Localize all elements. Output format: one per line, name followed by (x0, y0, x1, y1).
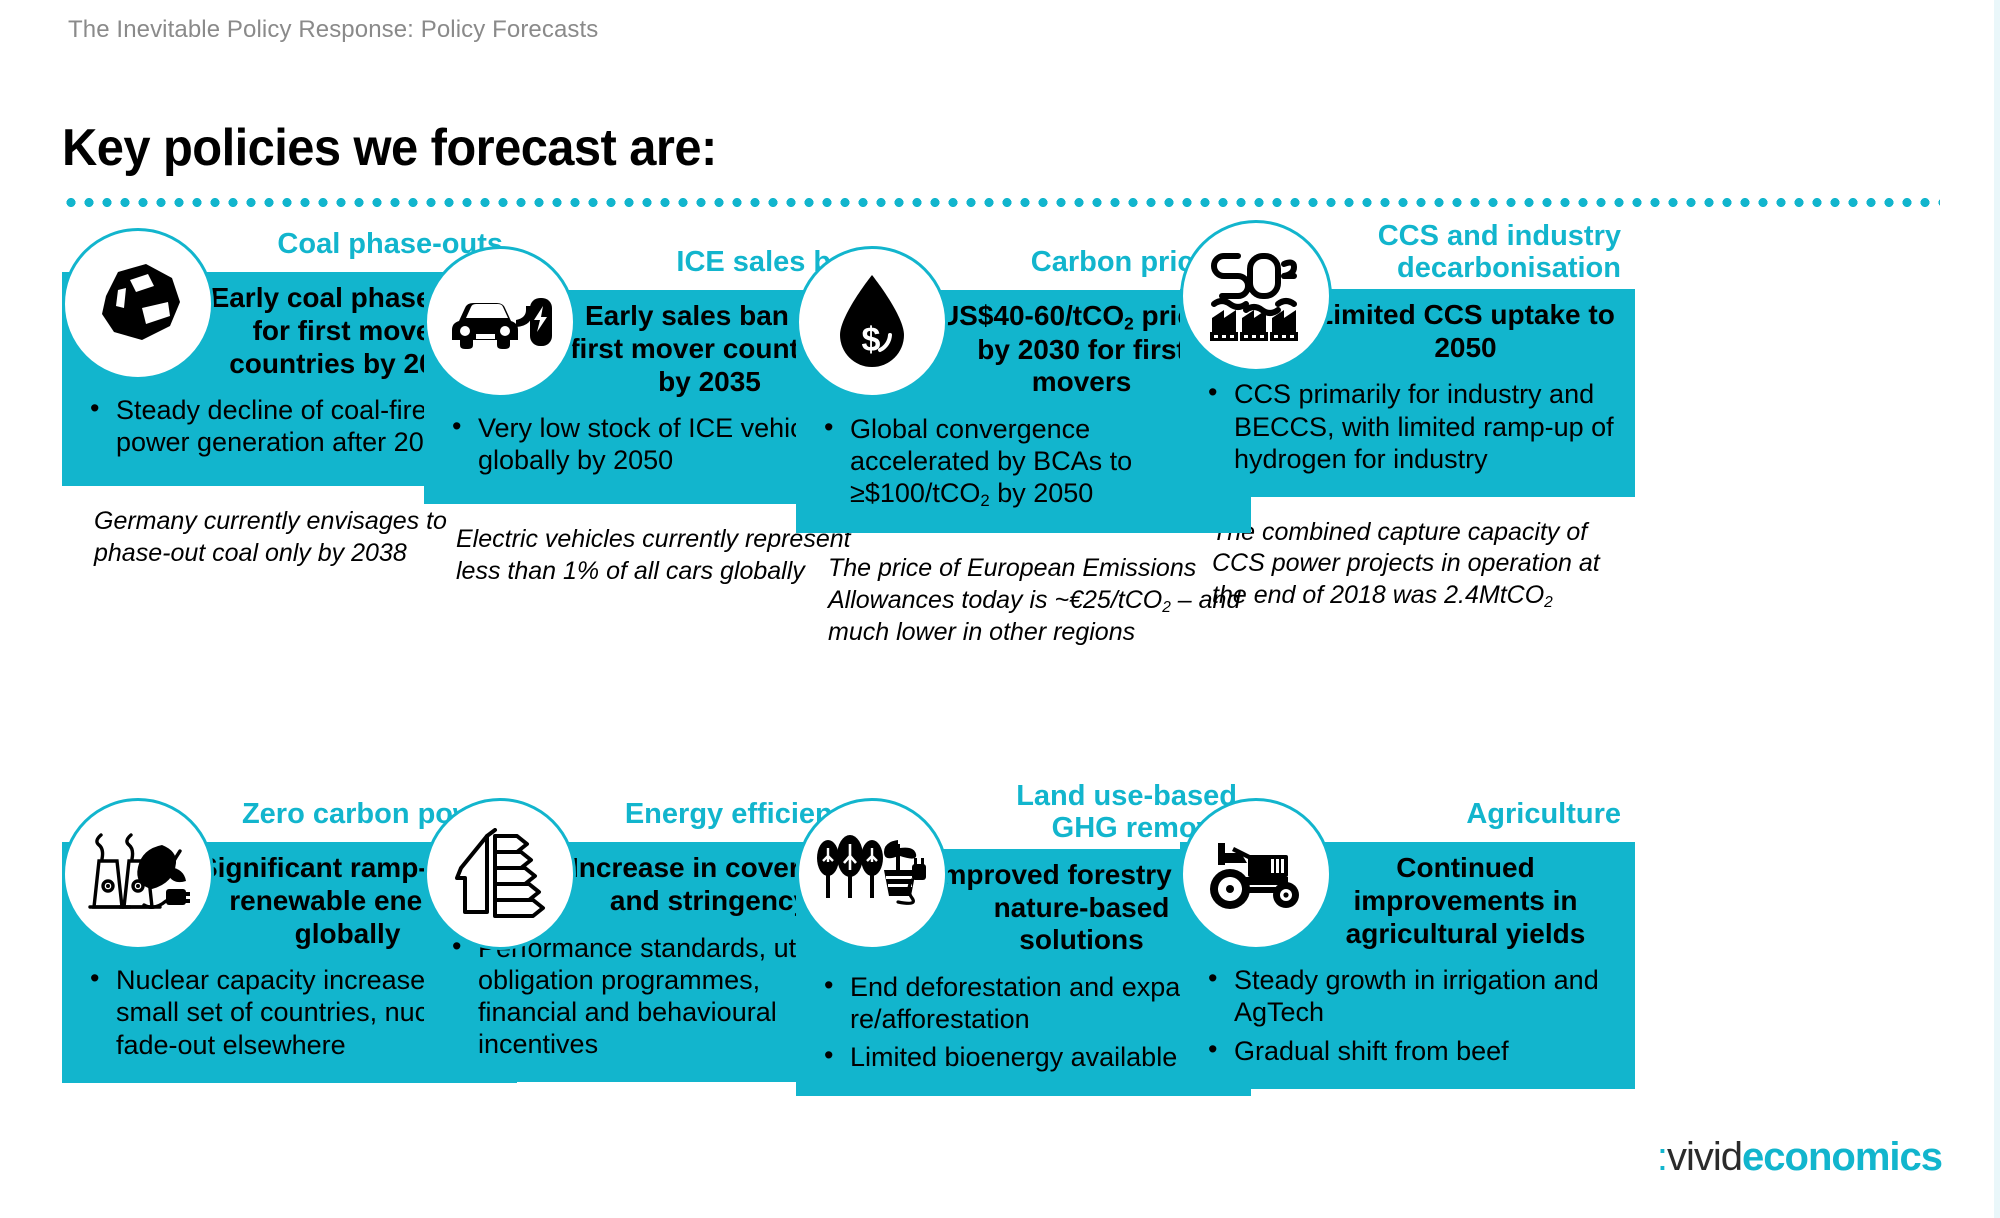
list-item: End deforestation and expand re/afforest… (810, 971, 1237, 1035)
list-item: Global convergence accelerated by BCAs t… (810, 413, 1237, 511)
card-bullets: End deforestation and expand re/afforest… (810, 971, 1237, 1073)
coal-lump-icon (62, 228, 214, 380)
svg-text:$: $ (862, 321, 881, 359)
card-agriculture[interactable]: Agriculture Continued improvements in ag… (1180, 798, 1635, 1089)
card-bullets: Global convergence accelerated by BCAs t… (810, 413, 1237, 511)
list-item: Limited bioenergy available (810, 1041, 1237, 1073)
card-bullets: CCS primarily for industry and BECCS, wi… (1194, 378, 1621, 474)
co2-factory-icon (1180, 220, 1332, 372)
vivid-economics-logo: :vivideconomics (1657, 1135, 1942, 1180)
dotted-divider (62, 198, 1940, 207)
list-item: Gradual shift from beef (1194, 1035, 1621, 1067)
list-item: CCS primarily for industry and BECCS, wi… (1194, 378, 1621, 474)
house-energy-rating-icon (424, 798, 576, 950)
slide-kicker: The Inevitable Policy Response: Policy F… (68, 16, 598, 44)
logo-word-economics: economics (1742, 1135, 1942, 1179)
card-bullets: Steady growth in irrigation and AgTech G… (1194, 964, 1621, 1066)
trees-plant-plug-icon (796, 798, 948, 950)
card-row-1: Coal phase-outs Early coal phase-out for… (0, 228, 2000, 688)
slide-edge (1994, 0, 2000, 1218)
slide: The Inevitable Policy Response: Policy F… (0, 0, 2000, 1218)
ev-charging-car-icon (424, 246, 576, 398)
dollar-droplet-icon: $ (796, 246, 948, 398)
list-item: Steady growth in irrigation and AgTech (1194, 964, 1621, 1028)
page-title: Key policies we forecast are: (62, 118, 717, 178)
tractor-icon (1180, 798, 1332, 950)
logo-colon: : (1657, 1135, 1667, 1179)
logo-word-vivid: vivid (1667, 1135, 1742, 1179)
card-ccs-and-industry-decarbonisation[interactable]: CCS and industry decarbonisation Limited… (1180, 220, 1635, 612)
nuclear-plant-leaf-plug-icon (62, 798, 214, 950)
policy-card-grid: Coal phase-outs Early coal phase-out for… (0, 228, 2000, 1198)
